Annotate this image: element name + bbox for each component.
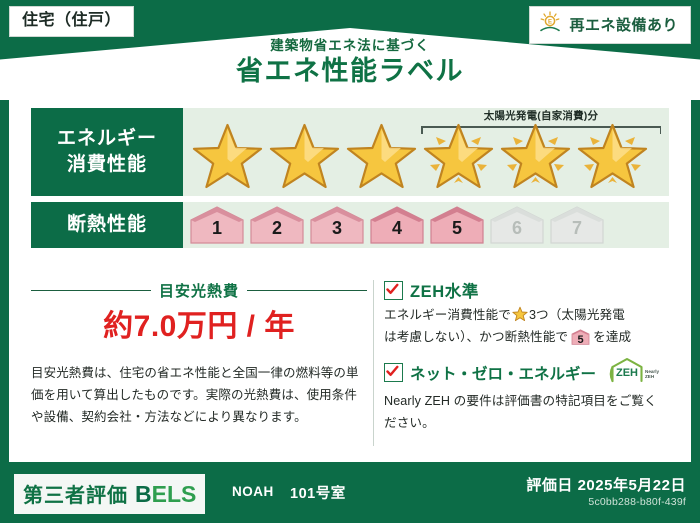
solar-lightbulb-icon: E — [538, 11, 562, 38]
grade-house-4: 4 — [369, 205, 425, 245]
details-section: 目安光熱費 約7.0万円 / 年 目安光熱費は、住宅の省エネ性能と全国一律の燃料… — [31, 278, 669, 448]
check-icon — [384, 363, 403, 382]
grade-house-2: 2 — [249, 205, 305, 245]
net-zero-energy-item: ネット・ゼロ・エネルギー ZEH Nearly ZEH Nearly ZEH の… — [384, 357, 669, 434]
bels-letters-els: ELS — [152, 481, 197, 507]
zeh-column: ZEH水準 エネルギー消費性能で3つ（太陽光発電は考慮しない）、かつ断熱性能で5… — [384, 278, 669, 448]
grade-house-5: 5 — [429, 205, 485, 245]
svg-text:ZEH: ZEH — [616, 367, 638, 379]
heading-rule-left — [31, 290, 151, 292]
grade-house-number: 4 — [369, 218, 425, 239]
grade-house-number: 6 — [489, 218, 545, 239]
bels-energy-label: 建築物省エネ法に基づく 省エネ性能ラベル 住宅（住戸） E 再エネ設備あり — [0, 0, 700, 523]
star-icon — [189, 115, 266, 189]
zeh-standard-item: ZEH水準 エネルギー消費性能で3つ（太陽光発電は考慮しない）、かつ断熱性能で5… — [384, 278, 669, 348]
bels-letter-b: B — [135, 481, 152, 507]
net-zero-energy-heading: ネット・ゼロ・エネルギー ZEH Nearly ZEH — [384, 357, 669, 388]
zeh-body-text-3: は考慮しない）、かつ断熱性能で — [384, 330, 568, 344]
svg-text:E: E — [548, 20, 552, 26]
energy-performance-label: エネルギー 消費性能 — [31, 108, 183, 196]
star-icon — [266, 115, 343, 189]
utility-cost-heading: 目安光熱費 — [31, 280, 367, 301]
grade-house-1: 1 — [189, 205, 245, 245]
title-block: 建築物省エネ法に基づく 省エネ性能ラベル — [0, 38, 700, 89]
grade-house-number: 5 — [429, 218, 485, 239]
grade-house-number: 3 — [309, 218, 365, 239]
evaluation-id: 5c0bb288-b80f-439f — [588, 496, 686, 508]
star-icon — [343, 115, 420, 189]
energy-performance-body: 太陽光発電(自家消費)分 — [183, 108, 669, 196]
net-zero-energy-title: ネット・ゼロ・エネルギー — [410, 362, 596, 384]
grade-house-6: 6 — [489, 205, 545, 245]
zeh-standard-title: ZEH水準 — [410, 278, 479, 302]
zeh-body-text-4: を達成 — [593, 330, 631, 344]
energy-label-line2: 消費性能 — [67, 154, 147, 175]
net-zero-energy-body: Nearly ZEH の要件は評価書の特記項目をご覧ください。 — [384, 391, 669, 434]
bels-logo: 第三者評価 BELS — [14, 474, 205, 514]
grade-house-7: 7 — [549, 205, 605, 245]
evaluation-date: 評価日 2025年5月22日 — [526, 474, 686, 495]
star-icon-inline — [512, 306, 528, 322]
heading-rule-right — [247, 290, 367, 292]
insulation-performance-label: 断熱性能 — [31, 202, 183, 248]
energy-performance-row: エネルギー 消費性能 太陽光発電(自家消費)分 — [31, 108, 669, 196]
zeh-standard-body: エネルギー消費性能で3つ（太陽光発電は考慮しない）、かつ断熱性能で5を達成 — [384, 305, 669, 348]
utility-cost-column: 目安光熱費 約7.0万円 / 年 目安光熱費は、住宅の省エネ性能と全国一律の燃料… — [31, 278, 367, 448]
star-icon-solar — [497, 115, 574, 189]
zeh-logo-icon: ZEH Nearly ZEH — [607, 357, 663, 388]
footer-bar: 第三者評価 BELS NOAH 101号室 評価日 2025年5月22日 5c0… — [0, 462, 700, 523]
title-subtitle: 建築物省エネ法に基づく — [0, 38, 700, 54]
room-number: 101号室 — [290, 482, 346, 503]
svg-text:ZEH: ZEH — [645, 374, 655, 379]
zeh-standard-heading: ZEH水準 — [384, 278, 669, 302]
bels-wordmark: BELS — [135, 481, 196, 508]
zeh-body-text-1: エネルギー消費性能で — [384, 308, 511, 322]
utility-cost-value: 約7.0万円 / 年 — [31, 310, 367, 345]
grade-house-number: 2 — [249, 218, 305, 239]
grade-house-number: 7 — [549, 218, 605, 239]
content-card: エネルギー 消費性能 太陽光発電(自家消費)分 — [9, 92, 691, 462]
check-icon — [384, 281, 403, 300]
page-title: 省エネ性能ラベル — [0, 55, 700, 89]
star-icon-solar — [420, 115, 497, 189]
inline-house-number: 5 — [571, 331, 590, 350]
star-icon-solar — [574, 115, 651, 189]
utility-cost-note: 目安光熱費は、住宅の省エネ性能と全国一律の燃料等の単価を用いて算出したものです。… — [31, 362, 367, 429]
performance-section: エネルギー 消費性能 太陽光発電(自家消費)分 — [31, 108, 669, 254]
grade-house-number: 1 — [189, 218, 245, 239]
grade-house-3: 3 — [309, 205, 365, 245]
building-name: NOAH — [232, 484, 274, 499]
housing-type-tag: 住宅（住戸） — [9, 6, 134, 37]
insulation-grade-scale: 1 2 — [189, 202, 605, 248]
column-divider — [373, 280, 374, 446]
energy-label-line1: エネルギー — [57, 128, 157, 149]
renewable-badge-label: 再エネ設備あり — [569, 14, 678, 35]
zeh-body-text-2: 3つ（太陽光発電 — [529, 308, 625, 322]
insulation-performance-body: 1 2 — [183, 202, 669, 248]
utility-cost-heading-label: 目安光熱費 — [159, 280, 239, 301]
grade-house-icon-inline: 5 — [571, 329, 590, 345]
star-rating — [183, 108, 669, 196]
insulation-performance-row: 断熱性能 1 — [31, 202, 669, 248]
bels-japanese-label: 第三者評価 — [23, 479, 128, 508]
